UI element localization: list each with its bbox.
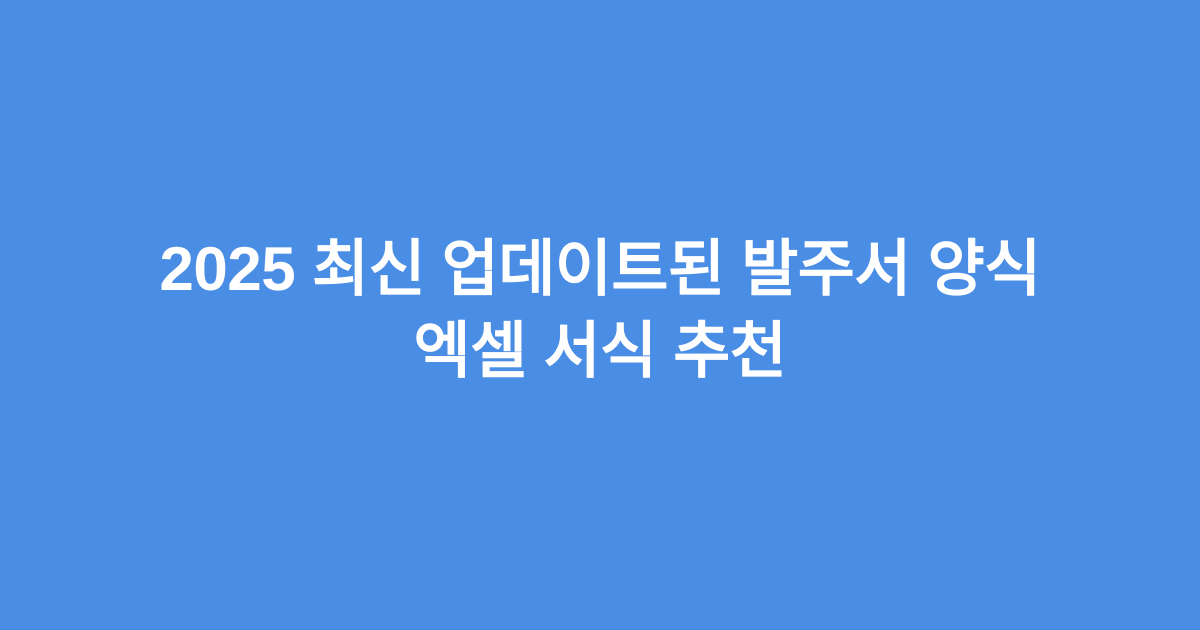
thumbnail-canvas: 2025 최신 업데이트된 발주서 양식 엑셀 서식 추천 (0, 0, 1200, 630)
title-line-1: 2025 최신 업데이트된 발주서 양식 (159, 229, 1040, 311)
title-line-2: 엑셀 서식 추천 (414, 311, 787, 393)
page-title: 2025 최신 업데이트된 발주서 양식 엑셀 서식 추천 (80, 229, 1120, 394)
